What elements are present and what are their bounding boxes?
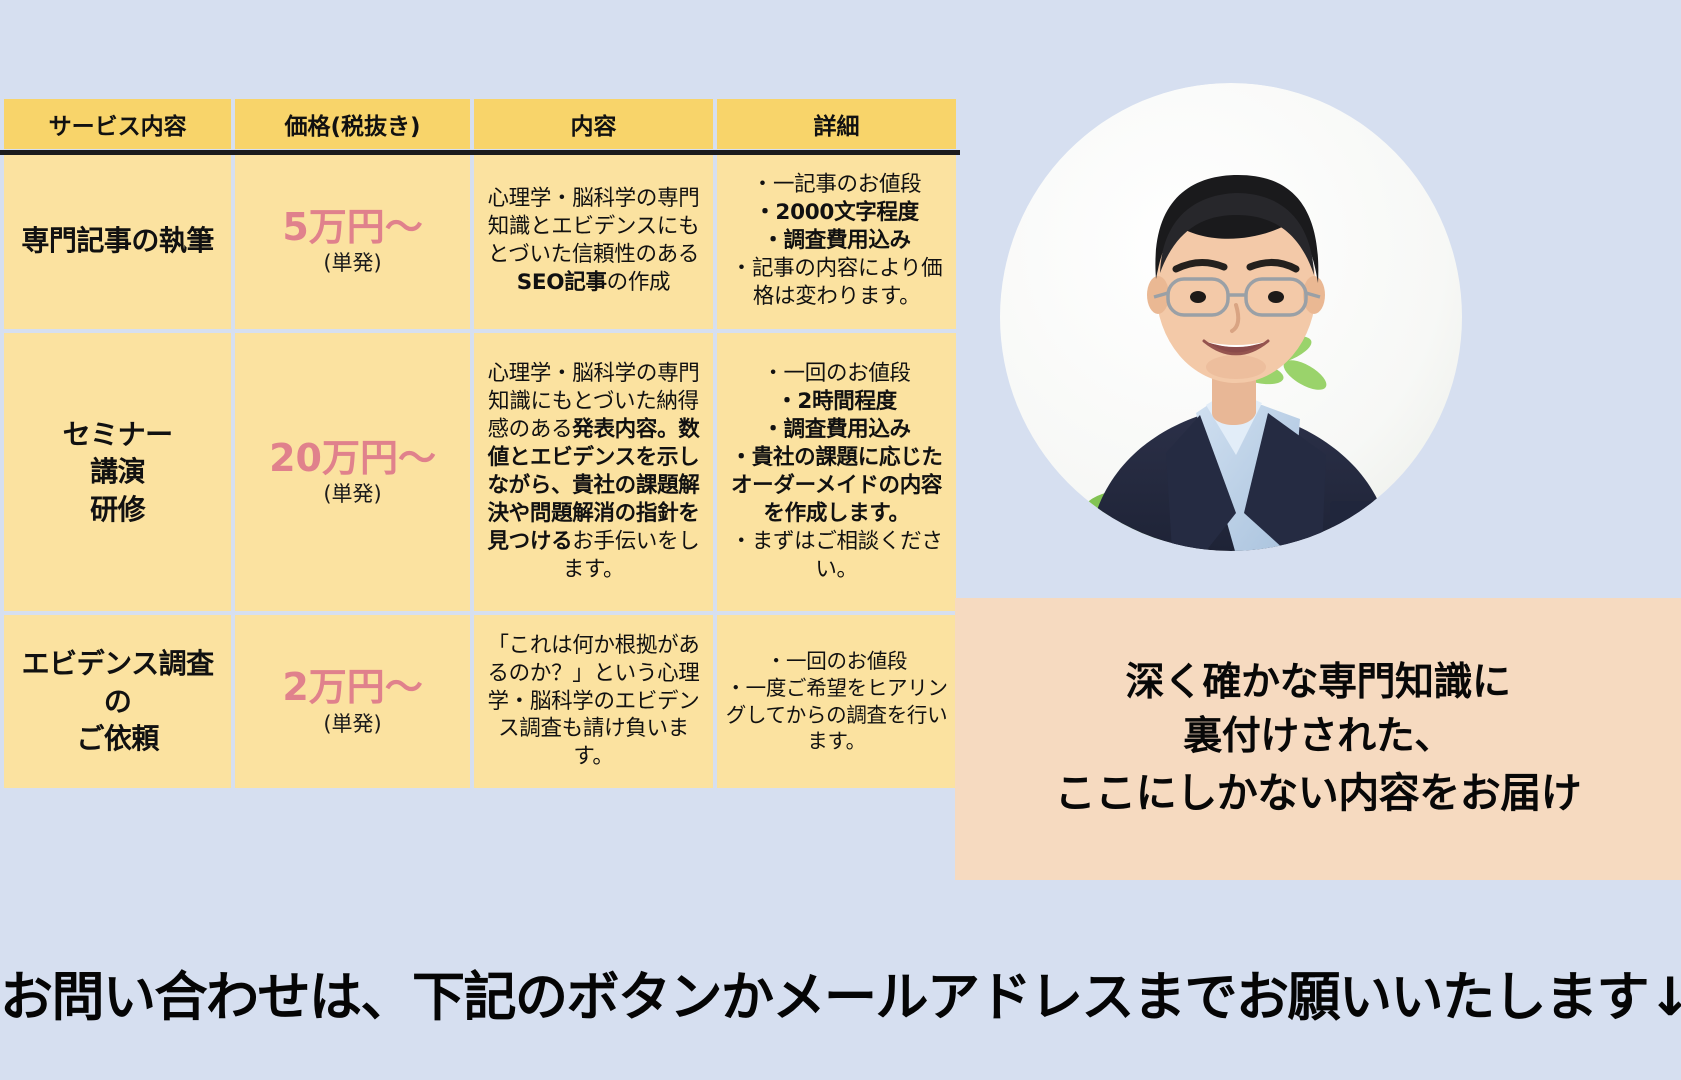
callout-line-3: ここにしかない内容をお届け [1055, 772, 1582, 815]
portrait-illustration [1000, 83, 1462, 551]
price-amount: 20万円〜 [241, 438, 464, 480]
cell-price: 20万円〜 (単発) [235, 333, 470, 611]
price-amount: 5万円〜 [241, 207, 464, 249]
cell-detail: ・一記事のお値段・2000文字程度・調査費用込み・記事の内容により価格は変わりま… [717, 153, 956, 329]
cell-price: 2万円〜 (単発) [235, 615, 470, 788]
cell-detail: ・一回のお値段・一度ご希望をヒアリングしてからの調査を行います。 [717, 615, 956, 788]
cell-content: 心理学・脳科学の専門知識にもとづいた納得感のある発表内容。数値とエビデンスを示し… [474, 333, 713, 611]
cell-service-name: 専門記事の執筆 [4, 153, 231, 329]
price-amount: 2万円〜 [241, 667, 464, 709]
header-underline-rule [0, 150, 960, 155]
cell-service-name: セミナー講演研修 [4, 333, 231, 611]
contact-cta-text: お問い合わせは、下記のボタンかメールアドレスまでお願いいたします↓ [0, 955, 1681, 1031]
slide-canvas: サービス内容 価格(税抜き) 内容 詳細 専門記事の執筆 5万円〜 (単発) 心… [0, 0, 1681, 1080]
column-header-service: サービス内容 [4, 99, 231, 149]
table-header-row: サービス内容 価格(税抜き) 内容 詳細 [4, 99, 956, 149]
service-price-table: サービス内容 価格(税抜き) 内容 詳細 専門記事の執筆 5万円〜 (単発) 心… [0, 95, 960, 792]
price-note: (単発) [241, 252, 464, 275]
callout-line-1: 深く確かな専門知識に [1125, 663, 1510, 704]
callout-line-2: 裏付けされた、 [1183, 717, 1453, 758]
cell-detail: ・一回のお値段・2時間程度・調査費用込み・貴社の課題に応じたオーダーメイドの内容… [717, 333, 956, 611]
cell-content: 心理学・脳科学の専門知識とエビデンスにもとづいた信頼性のあるSEO記事の作成 [474, 153, 713, 329]
column-header-content: 内容 [474, 99, 713, 149]
price-note: (単発) [241, 483, 464, 506]
cell-price: 5万円〜 (単発) [235, 153, 470, 329]
table-row: セミナー講演研修 20万円〜 (単発) 心理学・脳科学の専門知識にもとづいた納得… [4, 333, 956, 611]
cell-service-name: エビデンス調査のご依頼 [4, 615, 231, 788]
cell-content: 「これは何か根拠があるのか？」という心理学・脳科学のエビデンス調査も請け負います… [474, 615, 713, 788]
column-header-detail: 詳細 [717, 99, 956, 149]
table-row: エビデンス調査のご依頼 2万円〜 (単発) 「これは何か根拠があるのか？」という… [4, 615, 956, 788]
price-note: (単発) [241, 713, 464, 736]
column-header-price: 価格(税抜き) [235, 99, 470, 149]
presenter-portrait-photo [1000, 83, 1462, 551]
table-row: 専門記事の執筆 5万円〜 (単発) 心理学・脳科学の専門知識とエビデンスにもとづ… [4, 153, 956, 329]
table-body: 専門記事の執筆 5万円〜 (単発) 心理学・脳科学の専門知識とエビデンスにもとづ… [4, 153, 956, 788]
value-proposition-callout: 深く確かな専門知識に 裏付けされた、 ここにしかない内容をお届け [955, 598, 1681, 880]
